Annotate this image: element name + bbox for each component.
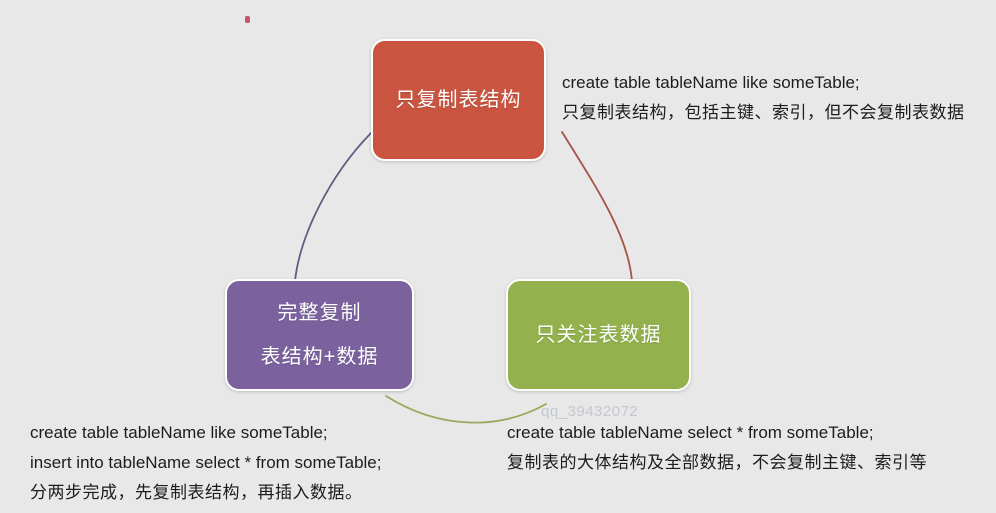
node-full-copy[interactable]: 完整复制 表结构+数据 (225, 279, 414, 391)
annotation-sql-line: create table tableName like someTable; (30, 418, 382, 448)
node-label-line: 表结构+数据 (261, 342, 379, 372)
connector-structure-to-full (295, 133, 371, 281)
node-only-table-data[interactable]: 只关注表数据 (506, 279, 691, 391)
node-label-line: 完整复制 (278, 298, 362, 328)
annotation-description-line: 只复制表结构，包括主键、索引，但不会复制表数据 (562, 98, 965, 128)
annotation-sql-line: create table tableName select * from som… (507, 418, 927, 448)
annotation-only-table-data: create table tableName select * from som… (507, 418, 927, 478)
annotation-full-copy: create table tableName like someTable; i… (30, 418, 382, 508)
node-label-line: 只关注表数据 (536, 320, 662, 350)
diagram-canvas: 只复制表结构 完整复制 表结构+数据 只关注表数据 create table t… (0, 0, 996, 513)
node-label-line: 只复制表结构 (396, 85, 522, 115)
annotation-description-line: 分两步完成，先复制表结构，再插入数据。 (30, 478, 382, 508)
stray-dot-marker (245, 16, 250, 23)
annotation-sql-line: create table tableName like someTable; (562, 68, 965, 98)
annotation-sql-line: insert into tableName select * from some… (30, 448, 382, 478)
node-only-copy-table-structure[interactable]: 只复制表结构 (371, 39, 546, 161)
annotation-description-line: 复制表的大体结构及全部数据，不会复制主键、索引等 (507, 448, 927, 478)
annotation-only-copy-table-structure: create table tableName like someTable; 只… (562, 68, 965, 128)
watermark-text: qq_39432072 (541, 403, 638, 420)
connector-structure-to-data (562, 132, 632, 281)
